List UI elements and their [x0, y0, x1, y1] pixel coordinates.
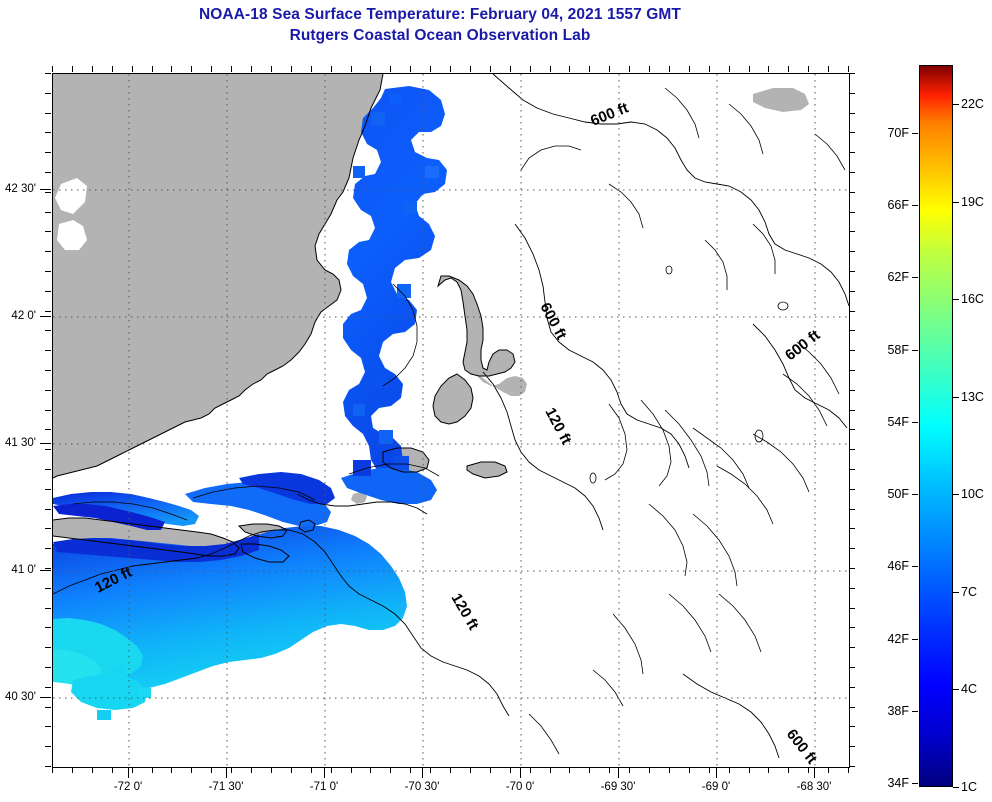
x-minor-tick-top [689, 66, 690, 72]
colorbar-tick-celsius [953, 397, 959, 398]
y-minor-tick-right [849, 608, 855, 609]
y-minor-tick-right [849, 449, 855, 450]
colorbar-label-celsius: 10C [961, 487, 984, 501]
x-minor-tick-top [808, 66, 809, 72]
y-minor-tick-right [849, 212, 855, 213]
x-minor-tick-top [52, 66, 53, 72]
x-major-tick [324, 767, 325, 778]
y-minor-tick-right [849, 291, 855, 292]
x-minor-tick-top [410, 66, 411, 72]
x-minor-tick [191, 767, 192, 773]
x-minor-tick-top [768, 66, 769, 72]
x-minor-tick [589, 767, 590, 773]
colorbar-tick-fahrenheit [912, 133, 918, 134]
x-minor-tick-top [390, 66, 391, 72]
x-minor-tick [271, 767, 272, 773]
y-minor-tick-right [849, 172, 855, 173]
colorbar[interactable] [919, 65, 953, 787]
y-minor-tick [45, 251, 51, 252]
x-minor-tick-top [191, 66, 192, 72]
x-minor-tick-top [291, 66, 292, 72]
x-minor-tick [729, 767, 730, 773]
y-minor-tick-right [849, 152, 855, 153]
x-minor-tick [92, 767, 93, 773]
colorbar-label-celsius: 7C [961, 585, 977, 599]
y-minor-tick [45, 330, 51, 331]
colorbar-tick-fahrenheit [912, 422, 918, 423]
x-minor-tick [530, 767, 531, 773]
x-minor-tick-top [788, 66, 789, 72]
y-minor-tick-right [849, 390, 855, 391]
y-minor-tick [45, 311, 51, 312]
y-minor-tick-right [849, 509, 855, 510]
x-minor-tick [331, 767, 332, 773]
colorbar-label-fahrenheit: 62F [861, 270, 909, 284]
colorbar-tick-celsius [953, 104, 959, 105]
y-minor-tick [45, 647, 51, 648]
y-axis-label: 41 0' [0, 564, 36, 576]
y-minor-tick [45, 271, 51, 272]
x-minor-tick-top [490, 66, 491, 72]
x-minor-tick-top [669, 66, 670, 72]
y-minor-tick [45, 687, 51, 688]
colorbar-tick-fahrenheit [912, 566, 918, 567]
colorbar-label-fahrenheit: 46F [861, 559, 909, 573]
colorbar-label-fahrenheit: 42F [861, 632, 909, 646]
y-minor-tick [45, 707, 51, 708]
x-minor-tick-top [609, 66, 610, 72]
y-minor-tick-right [849, 766, 855, 767]
x-minor-tick [390, 767, 391, 773]
colorbar-tick-fahrenheit [912, 639, 918, 640]
y-minor-tick-right [849, 330, 855, 331]
x-minor-tick [430, 767, 431, 773]
y-major-tick [40, 443, 51, 444]
colorbar-label-fahrenheit: 34F [861, 776, 909, 790]
x-minor-tick [410, 767, 411, 773]
y-minor-tick-right [849, 627, 855, 628]
y-minor-tick-right [849, 410, 855, 411]
x-minor-tick [311, 767, 312, 773]
y-minor-tick [45, 449, 51, 450]
x-axis-label: -69 0' [702, 781, 730, 793]
x-axis-label: -72 0' [114, 781, 142, 793]
y-minor-tick-right [849, 746, 855, 747]
y-axis-label: 40 30' [0, 691, 36, 703]
y-minor-tick-right [849, 271, 855, 272]
y-minor-tick [45, 667, 51, 668]
colorbar-tick-fahrenheit [912, 277, 918, 278]
x-minor-tick-top [211, 66, 212, 72]
colorbar-label-fahrenheit: 70F [861, 126, 909, 140]
x-minor-tick-top [231, 66, 232, 72]
y-minor-tick-right [849, 350, 855, 351]
x-minor-tick-top [470, 66, 471, 72]
x-minor-tick [828, 767, 829, 773]
colorbar-tick-celsius [953, 299, 959, 300]
x-minor-tick [848, 767, 849, 773]
y-major-tick [40, 570, 51, 571]
y-minor-tick [45, 231, 51, 232]
x-minor-tick-top [828, 66, 829, 72]
y-minor-tick [45, 726, 51, 727]
x-minor-tick [768, 767, 769, 773]
colorbar-tick-fahrenheit [912, 783, 918, 784]
y-minor-tick [45, 172, 51, 173]
x-minor-tick-top [251, 66, 252, 72]
y-axis-label: 41 30' [0, 437, 36, 449]
x-axis-label: -70 0' [506, 781, 534, 793]
x-minor-tick-top [112, 66, 113, 72]
x-minor-tick-top [749, 66, 750, 72]
x-minor-tick-top [569, 66, 570, 72]
x-minor-tick-top [351, 66, 352, 72]
colorbar-label-celsius: 19C [961, 195, 984, 209]
x-minor-tick-top [550, 66, 551, 72]
x-minor-tick [152, 767, 153, 773]
x-minor-tick [251, 767, 252, 773]
y-minor-tick [45, 608, 51, 609]
x-minor-tick [749, 767, 750, 773]
x-minor-tick-top [271, 66, 272, 72]
colorbar-tick-celsius [953, 689, 959, 690]
x-minor-tick-top [171, 66, 172, 72]
y-minor-tick-right [849, 667, 855, 668]
y-minor-tick [45, 588, 51, 589]
y-minor-tick [45, 469, 51, 470]
x-minor-tick-top [629, 66, 630, 72]
x-axis-label: -71 0' [310, 781, 338, 793]
x-major-tick [716, 767, 717, 778]
x-minor-tick-top [848, 66, 849, 72]
y-minor-tick [45, 528, 51, 529]
x-minor-tick [171, 767, 172, 773]
y-minor-tick-right [849, 489, 855, 490]
y-minor-tick [45, 509, 51, 510]
y-minor-tick [45, 370, 51, 371]
title-line-1: NOAA-18 Sea Surface Temperature: Februar… [0, 4, 880, 25]
y-minor-tick [45, 766, 51, 767]
y-minor-tick-right [849, 370, 855, 371]
y-minor-tick-right [849, 251, 855, 252]
x-minor-tick-top [510, 66, 511, 72]
colorbar-label-celsius: 16C [961, 292, 984, 306]
colorbar-tick-celsius [953, 494, 959, 495]
y-minor-tick-right [849, 93, 855, 94]
x-minor-tick [370, 767, 371, 773]
colorbar-label-celsius: 4C [961, 682, 977, 696]
y-minor-tick-right [849, 726, 855, 727]
x-minor-tick [351, 767, 352, 773]
x-minor-tick-top [450, 66, 451, 72]
y-minor-tick-right [849, 132, 855, 133]
colorbar-label-celsius: 22C [961, 97, 984, 111]
x-major-tick [226, 767, 227, 778]
x-major-tick [618, 767, 619, 778]
colorbar-label-fahrenheit: 66F [861, 198, 909, 212]
x-major-tick [814, 767, 815, 778]
x-axis-label: -70 30' [405, 781, 440, 793]
x-minor-tick [231, 767, 232, 773]
y-minor-tick [45, 627, 51, 628]
x-minor-tick-top [72, 66, 73, 72]
colorbar-label-fahrenheit: 38F [861, 704, 909, 718]
y-minor-tick-right [849, 231, 855, 232]
colorbar-label-celsius: 13C [961, 390, 984, 404]
x-minor-tick [788, 767, 789, 773]
y-minor-tick [45, 350, 51, 351]
x-minor-tick [550, 767, 551, 773]
x-minor-tick [649, 767, 650, 773]
x-minor-tick-top [709, 66, 710, 72]
y-major-tick [40, 189, 51, 190]
colorbar-gradient [919, 65, 953, 787]
y-minor-tick [45, 152, 51, 153]
colorbar-tick-celsius [953, 202, 959, 203]
x-axis-label: -71 30' [209, 781, 244, 793]
y-minor-tick [45, 73, 51, 74]
colorbar-label-fahrenheit: 58F [861, 343, 909, 357]
y-minor-tick-right [849, 73, 855, 74]
x-minor-tick [808, 767, 809, 773]
y-minor-tick [45, 568, 51, 569]
x-major-tick [520, 767, 521, 778]
x-axis-label: -69 30' [601, 781, 636, 793]
colorbar-label-celsius: 1C [961, 780, 977, 794]
x-minor-tick-top [370, 66, 371, 72]
colorbar-label-fahrenheit: 50F [861, 487, 909, 501]
x-minor-tick [689, 767, 690, 773]
x-minor-tick [112, 767, 113, 773]
colorbar-tick-fahrenheit [912, 711, 918, 712]
x-major-tick [422, 767, 423, 778]
x-minor-tick [450, 767, 451, 773]
y-minor-tick [45, 489, 51, 490]
y-minor-tick [45, 132, 51, 133]
y-minor-tick-right [849, 647, 855, 648]
y-minor-tick-right [849, 568, 855, 569]
y-axis-label: 42 0' [0, 310, 36, 322]
y-minor-tick-right [849, 429, 855, 430]
colorbar-tick-fahrenheit [912, 494, 918, 495]
y-minor-tick-right [849, 113, 855, 114]
x-minor-tick [291, 767, 292, 773]
x-minor-tick [52, 767, 53, 773]
x-minor-tick [132, 767, 133, 773]
x-minor-tick [709, 767, 710, 773]
x-minor-tick [510, 767, 511, 773]
x-axis-label: -68 30' [797, 781, 832, 793]
title-line-2: Rutgers Coastal Ocean Observation Lab [0, 25, 880, 46]
y-minor-tick [45, 746, 51, 747]
y-minor-tick [45, 192, 51, 193]
y-axis-label: 42 30' [0, 183, 36, 195]
x-minor-tick-top [649, 66, 650, 72]
x-minor-tick-top [92, 66, 93, 72]
colorbar-tick-celsius [953, 592, 959, 593]
x-minor-tick-top [152, 66, 153, 72]
x-minor-tick [470, 767, 471, 773]
y-minor-tick-right [849, 528, 855, 529]
x-minor-tick-top [589, 66, 590, 72]
sst-map-panel[interactable]: 600 ft 600 ft 600 ft 120 ft 120 ft 120 f… [52, 73, 850, 768]
x-minor-tick [490, 767, 491, 773]
y-major-tick [40, 316, 51, 317]
x-minor-tick [72, 767, 73, 773]
x-minor-tick-top [430, 66, 431, 72]
x-minor-tick [211, 767, 212, 773]
y-minor-tick [45, 410, 51, 411]
y-minor-tick [45, 429, 51, 430]
x-minor-tick-top [132, 66, 133, 72]
sst-map-svg: 600 ft 600 ft 600 ft 120 ft 120 ft 120 f… [53, 74, 849, 767]
y-minor-tick [45, 93, 51, 94]
y-minor-tick [45, 212, 51, 213]
y-minor-tick-right [849, 687, 855, 688]
x-minor-tick-top [729, 66, 730, 72]
x-minor-tick [669, 767, 670, 773]
y-minor-tick-right [849, 311, 855, 312]
y-minor-tick [45, 390, 51, 391]
x-minor-tick-top [331, 66, 332, 72]
y-major-tick [40, 697, 51, 698]
x-minor-tick-top [530, 66, 531, 72]
y-minor-tick-right [849, 707, 855, 708]
x-major-tick [128, 767, 129, 778]
x-minor-tick [569, 767, 570, 773]
y-minor-tick-right [849, 192, 855, 193]
y-minor-tick-right [849, 588, 855, 589]
y-minor-tick-right [849, 469, 855, 470]
colorbar-tick-celsius [953, 787, 959, 788]
colorbar-tick-fahrenheit [912, 205, 918, 206]
x-minor-tick-top [311, 66, 312, 72]
colorbar-label-fahrenheit: 54F [861, 415, 909, 429]
x-minor-tick [609, 767, 610, 773]
y-minor-tick [45, 113, 51, 114]
y-minor-tick [45, 548, 51, 549]
y-minor-tick [45, 291, 51, 292]
x-minor-tick [629, 767, 630, 773]
chart-title: NOAA-18 Sea Surface Temperature: Februar… [0, 4, 880, 46]
colorbar-tick-fahrenheit [912, 350, 918, 351]
y-minor-tick-right [849, 548, 855, 549]
